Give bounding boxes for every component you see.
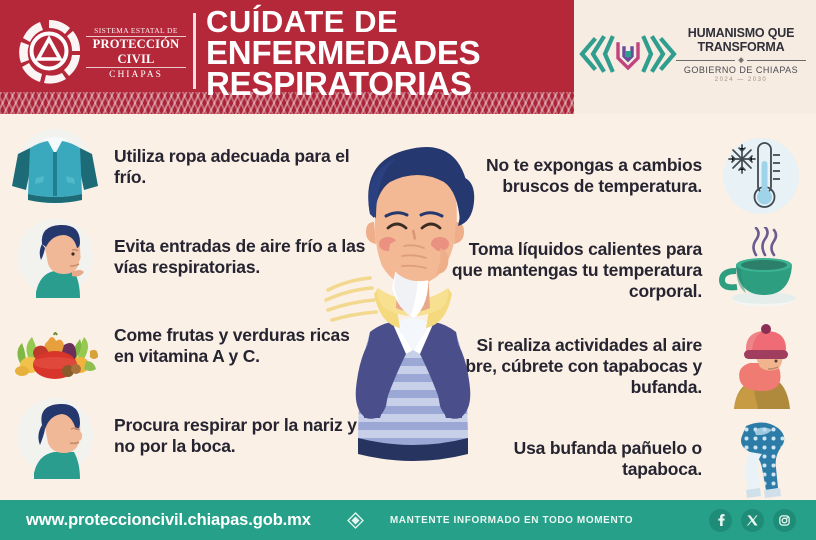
thermometer-snowflake-icon	[706, 133, 816, 219]
org-line1: SISTEMA ESTATAL DE	[86, 26, 186, 35]
title-line-1: CUÍDATE DE	[206, 6, 566, 37]
footer-note: MANTENTE INFORMADO EN TODO MOMENTO	[390, 515, 633, 526]
title-line-2: ENFERMEDADES	[206, 37, 566, 68]
man-profile-breathing-icon	[0, 393, 110, 479]
gov-brand-block: HUMANISMO QUE TRANSFORMA ◈ GOBIERNO DE C…	[676, 26, 806, 83]
winter-jacket-icon	[0, 124, 110, 210]
header-divider	[193, 13, 196, 89]
org-line3: CHIAPAS	[86, 70, 186, 80]
footer-bar: www.proteccioncivil.chiapas.gob.mx MANTE…	[0, 500, 816, 540]
instagram-icon[interactable]	[773, 509, 796, 532]
tips-left-column: Utiliza ropa adecuada para el frío. Evit…	[0, 122, 370, 482]
gov-years: 2024 — 2030	[676, 77, 806, 83]
title-line-3: RESPIRATORIAS	[206, 68, 566, 99]
blue-scarf-icon	[706, 416, 816, 502]
x-twitter-icon[interactable]	[741, 509, 764, 532]
gov-line2: TRANSFORMA	[676, 40, 806, 54]
gov-separator: ◈	[676, 56, 806, 64]
header: SISTEMA ESTATAL DE PROTECCIÓN CIVIL CHIA…	[0, 0, 816, 114]
gov-line1: HUMANISMO QUE	[676, 26, 806, 40]
org-name-block: SISTEMA ESTATAL DE PROTECCIÓN CIVIL CHIA…	[86, 26, 186, 80]
tip-item: Utiliza ropa adecuada para el frío.	[0, 122, 370, 212]
tip-item: Evita entradas de aire frío a las vías r…	[0, 212, 370, 302]
proteccion-civil-seal-icon	[16, 18, 82, 84]
page-title: CUÍDATE DE ENFERMEDADES RESPIRATORIAS	[206, 6, 566, 99]
org-line2: PROTECCIÓN CIVIL	[86, 36, 186, 68]
person-sneezing-into-tissue-illustration	[318, 118, 508, 500]
man-profile-cold-air-icon	[0, 214, 110, 300]
infographic-page: SISTEMA ESTATAL DE PROTECCIÓN CIVIL CHIA…	[0, 0, 816, 540]
gov-line3: GOBIERNO DE CHIAPAS	[676, 65, 806, 75]
website-url[interactable]: www.proteccioncivil.chiapas.gob.mx	[26, 511, 311, 530]
facebook-icon[interactable]	[709, 509, 732, 532]
diamond-icon	[347, 512, 364, 529]
tip-item: Procura respirar por la nariz y no por l…	[0, 390, 370, 482]
hot-drink-cup-icon	[706, 227, 816, 313]
tip-item: Come frutas y verduras ricas en vitamina…	[0, 302, 370, 390]
humanismo-que-transforma-logo-icon	[578, 28, 678, 80]
person-winter-hat-scarf-icon	[706, 323, 816, 409]
fruits-vegetables-icon	[0, 303, 110, 389]
social-links	[709, 509, 796, 532]
